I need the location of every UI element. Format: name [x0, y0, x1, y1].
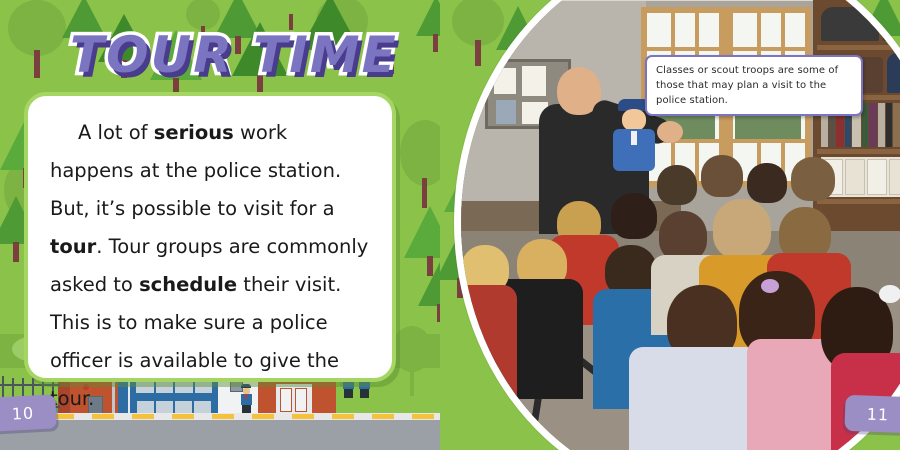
hair-tie	[879, 285, 900, 303]
body-seg-bold: schedule	[139, 273, 237, 296]
page-title: TOUR TIME	[70, 24, 390, 86]
book-spread: TOUR TIME	[0, 0, 900, 450]
child-shirt	[629, 347, 759, 450]
page-number-tab-left: 10	[0, 394, 57, 431]
child-head	[701, 155, 743, 197]
body-seg: A lot of	[78, 121, 154, 144]
body-seg-bold: serious	[154, 121, 234, 144]
page-number-left: 10	[0, 394, 57, 431]
child-head	[611, 193, 657, 239]
child-head	[791, 157, 835, 201]
road-dash	[372, 414, 394, 419]
page-number-tab-right: 11	[844, 395, 900, 433]
road-dash	[412, 414, 434, 419]
hair-tie	[761, 279, 779, 293]
left-page: TOUR TIME	[0, 0, 455, 450]
child-head	[713, 199, 771, 259]
body-seg-bold: tour	[50, 235, 96, 258]
child-head	[659, 211, 707, 261]
child-shirt	[461, 285, 517, 405]
child-head	[747, 163, 787, 203]
child-head	[657, 165, 697, 205]
page-title-text: TOUR TIME	[70, 24, 390, 86]
photo-caption: Classes or scout troops are some of thos…	[645, 55, 863, 116]
bookshelf	[813, 0, 900, 234]
page-number-right: 11	[844, 395, 900, 433]
puppet-tie	[631, 131, 637, 145]
adult-hand	[657, 121, 683, 143]
right-page: Classes or scout troops are some of thos…	[440, 0, 900, 450]
body-paragraph: A lot of serious work happens at the pol…	[50, 114, 370, 418]
photo-caption-text: Classes or scout troops are some of thos…	[656, 63, 852, 108]
body-text-card: A lot of serious work happens at the pol…	[24, 92, 396, 382]
puppet-face	[622, 109, 646, 131]
